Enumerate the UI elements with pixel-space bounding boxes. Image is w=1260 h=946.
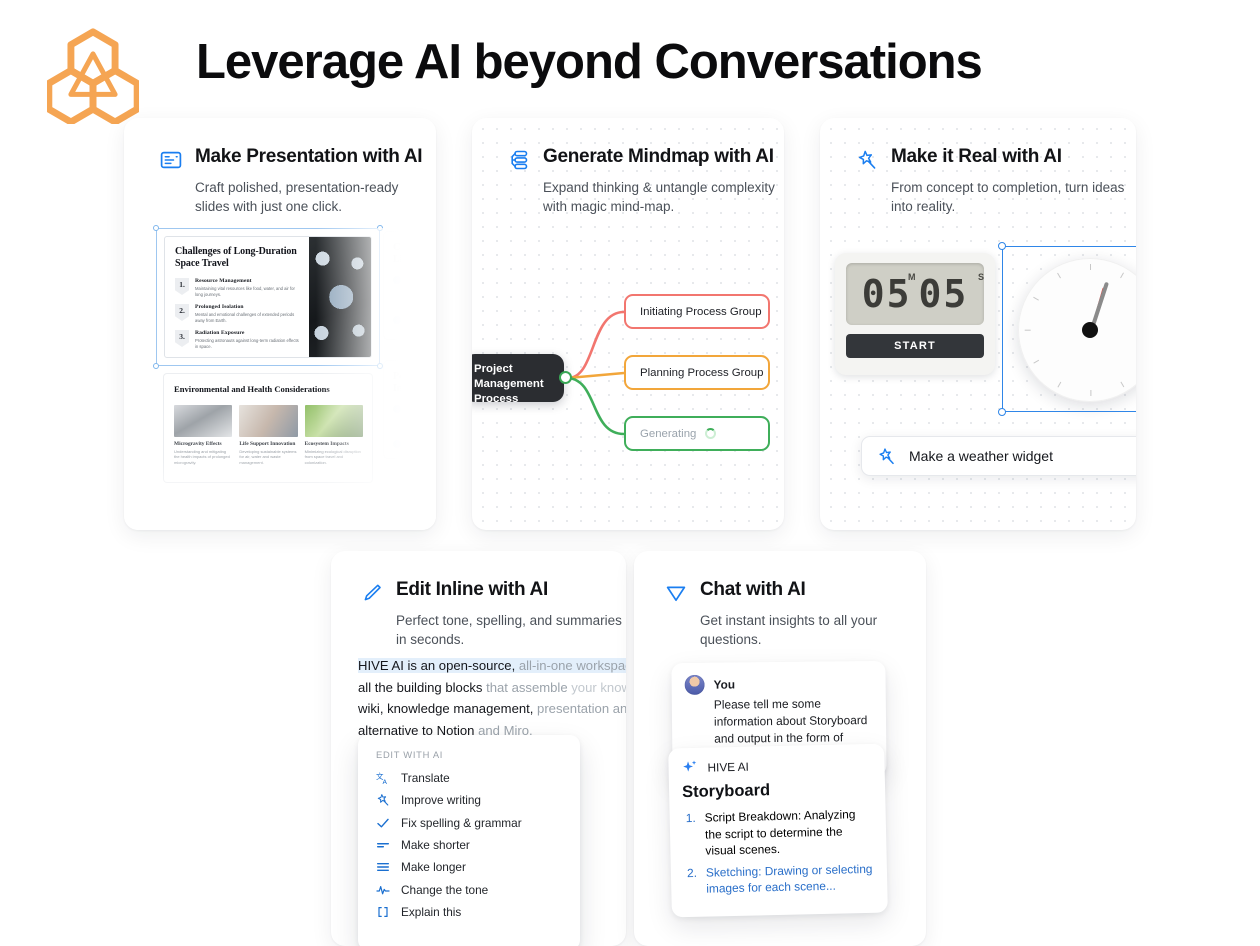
chat-author: You — [714, 677, 736, 691]
chat-response-list: 1. Script Breakdown: Analyzing the scrip… — [683, 806, 875, 898]
magic-wand-icon — [877, 447, 896, 466]
paragraph-line2-c: your knowle — [568, 680, 626, 695]
mindmap-node-planning[interactable]: Planning Process Group — [624, 355, 770, 390]
resize-handle-bl[interactable] — [153, 363, 159, 369]
card-header: Make it Real with AI From concept to com… — [820, 118, 1136, 216]
list-text: Script Breakdown: Analyzing the script t… — [705, 806, 874, 859]
tone-wave-icon — [376, 883, 390, 897]
resize-handle-bl[interactable] — [998, 408, 1006, 416]
menu-item-explain-this[interactable]: Explain this — [358, 901, 580, 923]
timer-seconds-unit: S — [978, 272, 984, 282]
thumb-image — [174, 405, 232, 437]
user-avatar — [685, 675, 705, 695]
card-header: Edit Inline with AI Perfect tone, spelli… — [331, 551, 626, 649]
analog-clock-widget[interactable] — [1002, 246, 1136, 412]
chat-response-heading: Storyboard — [682, 779, 872, 802]
menu-section-label: EDIT WITH AI — [358, 749, 580, 767]
mindmap-connector-port[interactable] — [559, 371, 572, 384]
timer-start-button[interactable]: START — [846, 334, 984, 358]
card-subtitle: Craft polished, presentation-ready slide… — [195, 178, 436, 216]
card-title: Make Presentation with AI — [195, 146, 422, 168]
magic-wand-icon — [856, 149, 878, 171]
resize-handle-tl[interactable] — [998, 242, 1006, 250]
thumb-image — [239, 405, 297, 437]
chat-list-item: 1. Script Breakdown: Analyzing the scrip… — [683, 806, 874, 860]
resize-handle-tl[interactable] — [153, 225, 159, 231]
menu-item-label: Make longer — [401, 860, 466, 874]
hive-hexagon-logo — [47, 28, 139, 124]
menu-item-improve-writing[interactable]: Improve writing — [358, 789, 580, 811]
menu-item-label: Improve writing — [401, 793, 481, 807]
menu-item-change-tone[interactable]: Change the tone — [358, 878, 580, 900]
menu-item-translate[interactable]: 文A Translate — [358, 767, 580, 789]
timer-seconds: 05 — [919, 274, 969, 314]
svg-text:A: A — [383, 778, 388, 785]
send-plane-icon — [665, 582, 687, 604]
page-root: Leverage AI beyond Conversations Make Pr… — [0, 0, 1260, 946]
menu-item-label: Translate — [401, 771, 450, 785]
menu-item-label: Change the tone — [401, 883, 488, 897]
card-title: Make it Real with AI — [891, 146, 1062, 168]
shorten-lines-icon — [376, 838, 390, 852]
mindmap-node-generating[interactable]: Generating — [624, 416, 770, 451]
timer-lcd-display: 05 05 M S — [846, 263, 984, 325]
mindmap-canvas[interactable]: Project Management Process Groups Initia… — [472, 118, 784, 530]
menu-item-label: Fix spelling & grammar — [401, 816, 522, 830]
card-edit-inline[interactable]: Edit Inline with AI Perfect tone, spelli… — [331, 551, 626, 946]
list-text: Sketching: Drawing or selecting images f… — [706, 860, 875, 897]
card-make-it-real[interactable]: Make it Real with AI From concept to com… — [820, 118, 1136, 530]
mindmap-node-label: Generating — [640, 428, 696, 440]
card-title: Chat with AI — [700, 579, 805, 601]
card-chat-with-ai[interactable]: Chat with AI Get instant insights to all… — [634, 551, 926, 946]
prompt-bar-weather-widget[interactable]: Make a weather widget — [861, 436, 1136, 476]
check-icon — [376, 816, 390, 830]
prompt-bar-text: Make a weather widget — [909, 448, 1053, 464]
timer-minutes: 05 — [862, 274, 912, 314]
pencil-icon — [361, 582, 383, 604]
loading-spinner-icon — [705, 428, 716, 439]
menu-item-label: Make shorter — [401, 838, 470, 852]
mindmap-node-label: Initiating Process Group — [640, 306, 762, 318]
page-header: Leverage AI beyond Conversations — [0, 0, 1260, 118]
presentation-slide-icon — [160, 149, 182, 171]
paragraph-seg-a: all-in-one workspace — [515, 658, 626, 673]
chat-author: HIVE AI — [707, 759, 749, 774]
menu-item-make-longer[interactable]: Make longer — [358, 856, 580, 878]
list-number: 2. — [684, 864, 698, 897]
mindmap-root-node[interactable]: Project Management Process Groups — [472, 354, 564, 402]
paragraph-line2-a: all the building blocks — [358, 680, 482, 695]
card-header: Make Presentation with AI Craft polished… — [124, 118, 436, 216]
card-subtitle: From concept to completion, turn ideas i… — [891, 178, 1136, 216]
translate-icon: 文A — [376, 771, 390, 785]
card-subtitle: Perfect tone, spelling, and summaries in… — [396, 611, 626, 649]
brackets-icon — [376, 905, 390, 919]
sparkle-wand-icon — [376, 793, 390, 807]
mindmap-node-initiating[interactable]: Initiating Process Group — [624, 294, 770, 329]
paragraph-line3-a: wiki, knowledge management, — [358, 701, 533, 716]
paragraph-line3-b: presentation and — [533, 701, 626, 716]
mindmap-node-label: Planning Process Group — [640, 367, 763, 379]
chat-message-ai[interactable]: HIVE AI Storyboard 1. Script Breakdown: … — [668, 744, 888, 917]
chat-list-item-streaming: 2. Sketching: Drawing or selecting image… — [684, 860, 875, 897]
editable-paragraph[interactable]: HIVE AI is an open-source, all-in-one wo… — [358, 655, 626, 741]
card-title: Edit Inline with AI — [396, 579, 548, 601]
countdown-timer-widget[interactable]: 05 05 M S START — [835, 253, 995, 375]
thumb-title: Microgravity Effects — [174, 441, 232, 447]
clock-selection-frame[interactable] — [1002, 246, 1136, 412]
slide-thumb: Life Support Innovation Developing susta… — [239, 405, 297, 465]
menu-item-fix-spelling[interactable]: Fix spelling & grammar — [358, 812, 580, 834]
card-generate-mindmap[interactable]: Generate Mindmap with AI Expand thinking… — [472, 118, 784, 530]
menu-item-make-shorter[interactable]: Make shorter — [358, 834, 580, 856]
card-subtitle: Get instant insights to all your questio… — [700, 611, 900, 649]
thumb-title: Life Support Innovation — [239, 441, 297, 447]
timer-minutes-unit: M — [908, 272, 916, 282]
slide-thumb: Microgravity Effects Understanding and m… — [174, 405, 232, 465]
edit-with-ai-menu[interactable]: EDIT WITH AI 文A Translate Improve writin… — [358, 735, 580, 946]
card-make-presentation[interactable]: Make Presentation with AI Craft polished… — [124, 118, 436, 530]
paragraph-highlight: HIVE AI is an open-source, — [358, 658, 515, 673]
fade-overlay-bottom — [124, 458, 436, 530]
longer-lines-icon — [376, 860, 390, 874]
ai-sparkle-icon — [681, 759, 698, 776]
paragraph-line2-b: that assemble — [482, 680, 567, 695]
page-title: Leverage AI beyond Conversations — [196, 34, 982, 90]
card-header: Chat with AI Get instant insights to all… — [634, 551, 900, 649]
list-number: 1. — [683, 810, 697, 860]
menu-item-label: Explain this — [401, 905, 461, 919]
